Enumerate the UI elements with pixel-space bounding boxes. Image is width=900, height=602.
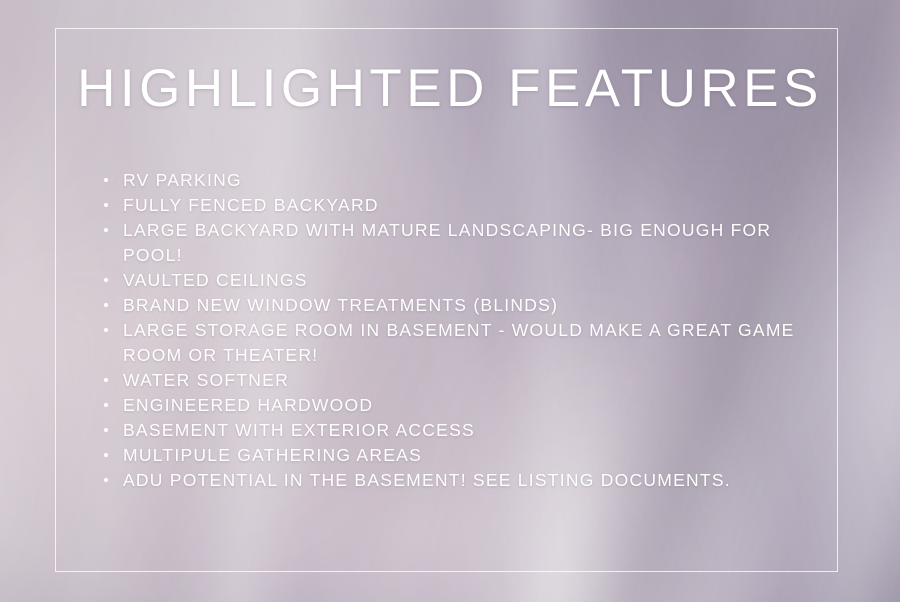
list-item: VAULTED CEILINGS	[104, 268, 804, 293]
highlighted-features-slide: HIGHLIGHTED FEATURES RV PARKING FULLY FE…	[0, 0, 900, 602]
list-item: LARGE BACKYARD WITH MATURE LANDSCAPING- …	[104, 218, 804, 267]
list-item: ADU POTENTIAL IN THE BASEMENT! SEE LISTI…	[104, 468, 804, 493]
feature-list: RV PARKING FULLY FENCED BACKYARD LARGE B…	[104, 168, 804, 493]
page-title: HIGHLIGHTED FEATURES	[0, 62, 900, 115]
list-item: LARGE STORAGE ROOM IN BASEMENT - WOULD M…	[104, 318, 804, 367]
list-item: ENGINEERED HARDWOOD	[104, 393, 804, 418]
list-item: BASEMENT WITH EXTERIOR ACCESS	[104, 418, 804, 443]
slide-content: HIGHLIGHTED FEATURES RV PARKING FULLY FE…	[0, 0, 900, 602]
list-item: MULTIPULE GATHERING AREAS	[104, 443, 804, 468]
list-item: WATER SOFTNER	[104, 368, 804, 393]
list-item: RV PARKING	[104, 168, 804, 193]
list-item: FULLY FENCED BACKYARD	[104, 193, 804, 218]
list-item: BRAND NEW WINDOW TREATMENTS (BLINDS)	[104, 293, 804, 318]
